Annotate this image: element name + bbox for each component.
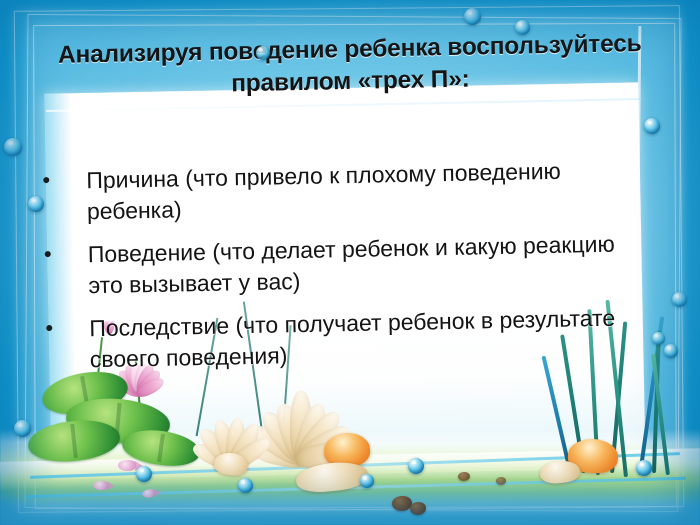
bullet-dot-icon xyxy=(43,177,49,183)
glass-marble-right-upper xyxy=(644,118,660,134)
glass-marble-seaweed-top xyxy=(652,332,665,345)
bullet-item-1: Причина (что привело к плохому поведению… xyxy=(36,154,637,227)
glass-marble-right-lower xyxy=(664,344,678,358)
bullet-list: Причина (что привело к плохому поведению… xyxy=(36,154,640,388)
bullet-dot-icon xyxy=(46,325,52,331)
glass-marble-left-lower xyxy=(14,420,31,437)
bullet-item-2: Поведение (что делает ребенок и какую ре… xyxy=(38,228,639,301)
glass-marble-top-center xyxy=(464,8,481,25)
bullet-dot-icon xyxy=(45,251,51,257)
glass-marble-shelf-mid xyxy=(238,478,253,493)
bullet-item-2-text: Поведение (что делает ребенок и какую ре… xyxy=(88,231,615,298)
glass-marble-shelf-c1 xyxy=(408,458,424,474)
glass-marble-left-upper xyxy=(4,138,22,156)
slide-title: Анализируя поведение ребенка воспользуйт… xyxy=(47,28,652,104)
bullet-item-3-text: Последствие (что получает ребенок в резу… xyxy=(89,305,615,372)
slide-text-layer: Анализируя поведение ребенка воспользуйт… xyxy=(0,0,700,525)
bullet-item-1-text: Причина (что привело к плохому поведению… xyxy=(86,158,561,224)
glass-marble-right-shelf xyxy=(636,460,652,476)
bullet-item-3: Последствие (что получает ребенок в резу… xyxy=(39,303,640,376)
presentation-slide: Анализируя поведение ребенка воспользуйт… xyxy=(0,0,700,525)
glass-marble-shelf-left xyxy=(136,466,152,482)
glass-marble-top-right xyxy=(515,20,530,35)
glass-marble-left-mid xyxy=(28,196,44,212)
glass-marble-title-left xyxy=(256,46,270,60)
glass-marble-shelf-c2 xyxy=(360,474,374,488)
glass-marble-right-mid xyxy=(672,292,687,307)
